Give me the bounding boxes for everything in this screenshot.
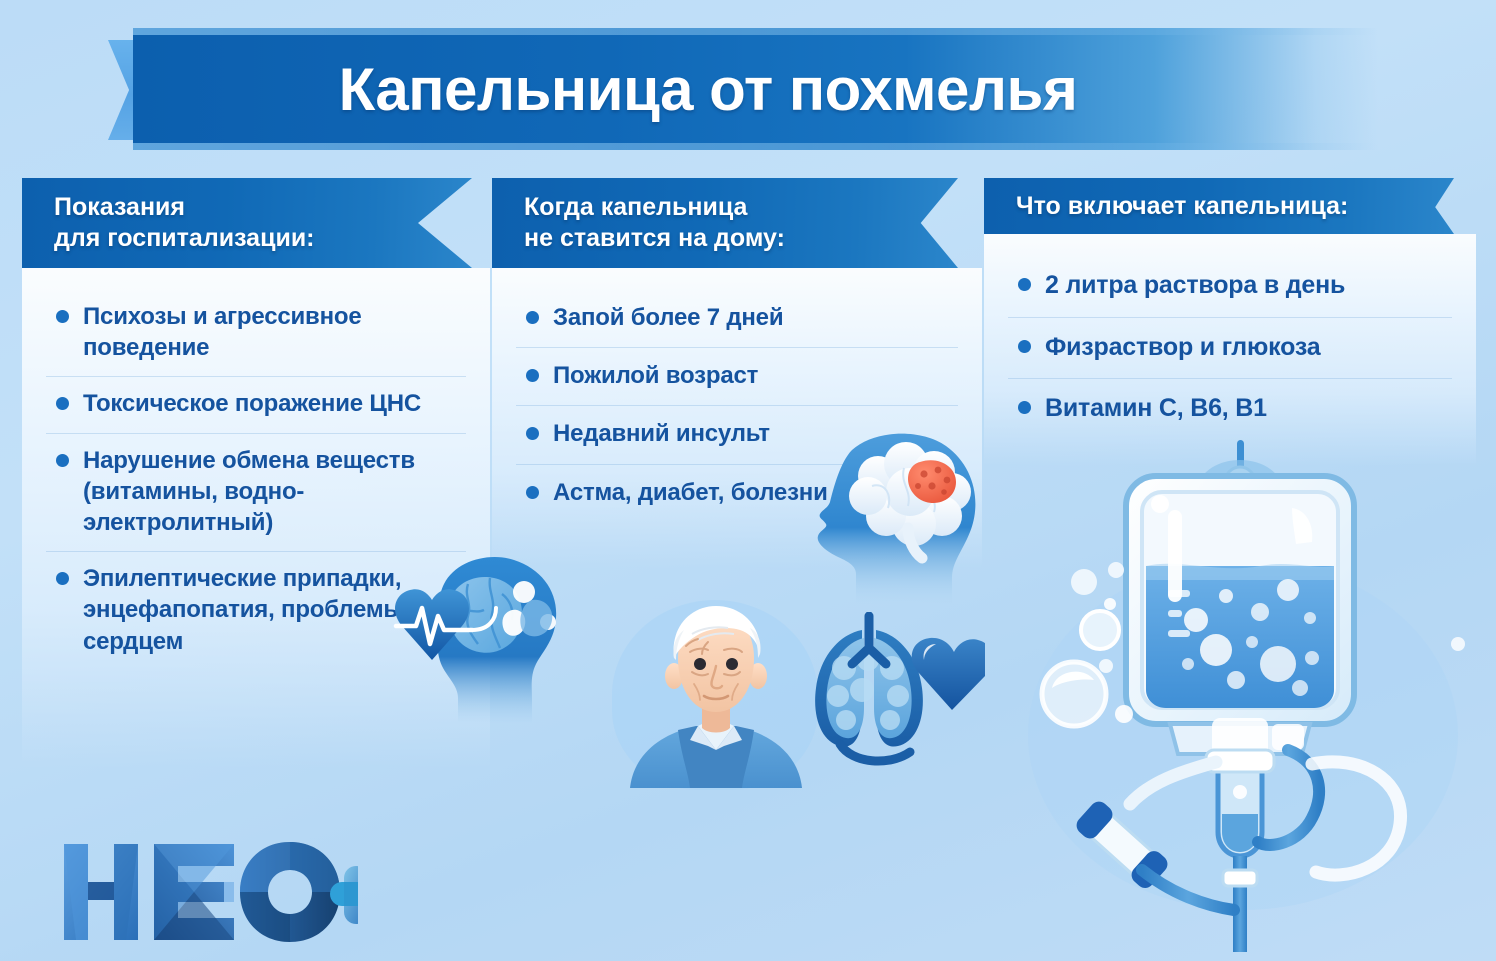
list-item-label: Недавний инсульт [553,418,770,449]
list-item-label: Нарушение обмена веществ (витамины, водн… [83,445,462,539]
panel-body-contents: 2 литра раствора в день Физраствор и глю… [984,234,1476,466]
list-item-label: Запой более 7 дней [553,302,783,333]
iv-drip-bag-icon [1020,432,1480,952]
list-item: Витамин С, В6, В1 [1008,379,1452,440]
head-brain-stroke-icon [792,424,1012,604]
list-item-label: Физраствор и глюкоза [1045,331,1320,364]
logo-letter-n [64,844,138,940]
panel-header-line: Показания [54,192,472,223]
bullet-dot-icon [1018,401,1031,414]
panel-header-line: Что включает капельница: [1016,191,1454,222]
list-item-label: Токсическое поражение ЦНС [83,388,421,419]
logo-letter-e [154,844,234,940]
brand-logo-neo-plus [58,838,358,946]
list-item-label: Пожилой возраст [553,360,758,391]
title-banner: Капельница от похмелья [0,28,1496,150]
list-item-label: Психозы и агрессивное поведение [83,301,462,363]
list-item: Токсическое поражение ЦНС [46,377,466,433]
bullet-dot-icon [526,486,539,499]
bullet-dot-icon [56,572,69,585]
bullet-dot-icon [526,427,539,440]
bullet-dot-icon [56,310,69,323]
panel-header-contents: Что включает капельница: [984,178,1454,234]
list-item: Физраствор и глюкоза [1008,318,1452,380]
panel-header-indications: Показания для госпитализации: [22,178,472,268]
list-item-label: Витамин С, В6, В1 [1045,392,1267,425]
logo-letter-o [240,842,340,942]
list-item: Пожилой возраст [516,348,958,406]
bullet-dot-icon [56,397,69,410]
bullet-list-contents: 2 литра раствора в день Физраствор и глю… [1008,256,1452,440]
bullet-dot-icon [56,454,69,467]
bullet-dot-icon [526,369,539,382]
bullet-dot-icon [1018,340,1031,353]
panel-header-line: не ставится на дому: [524,223,958,254]
elderly-man-icon [612,600,820,788]
page-title: Капельница от похмелья [133,28,1283,150]
bullet-dot-icon [1018,278,1031,291]
lungs-heart-icon [800,612,985,772]
list-item: Психозы и агрессивное поведение [46,290,466,377]
panel-header-line: для госпитализации: [54,223,472,254]
panel-header-contraindications: Когда капельница не ставится на дому: [492,178,958,268]
head-brain-heartbeat-icon [372,548,604,723]
bullet-dot-icon [526,311,539,324]
list-item-label: 2 литра раствора в день [1045,269,1345,302]
panel-header-line: Когда капельница [524,192,958,223]
list-item: 2 литра раствора в день [1008,256,1452,318]
list-item: Запой более 7 дней [516,290,958,348]
list-item: Нарушение обмена веществ (витамины, водн… [46,434,466,553]
panel-contents: Что включает капельница: 2 литра раствор… [984,178,1476,466]
